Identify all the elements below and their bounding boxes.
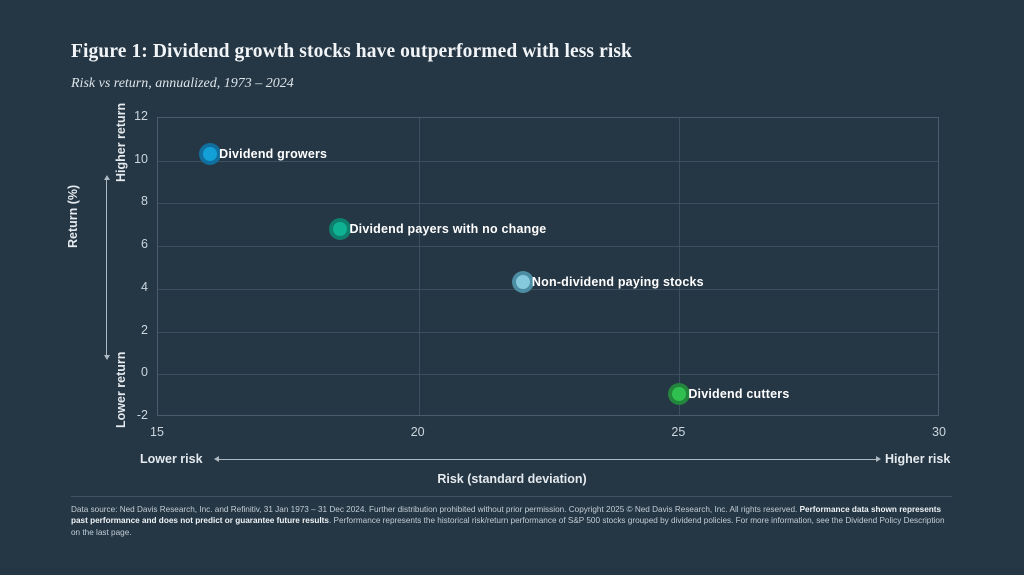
footer-divider [71, 496, 952, 497]
y-axis-tick-label: 0 [118, 365, 148, 379]
data-point-marker [672, 387, 686, 401]
gridline-horizontal [158, 203, 938, 204]
x-axis-tick-label: 20 [398, 425, 438, 439]
y-axis-direction-arrow [100, 117, 114, 416]
gridline-horizontal [158, 374, 938, 375]
data-point[interactable]: Non-dividend paying stocks [512, 271, 534, 293]
scatter-plot-area: Dividend growersDividend payers with no … [157, 117, 939, 416]
data-point-marker [203, 147, 217, 161]
arrow-line [218, 459, 878, 460]
page-title: Figure 1: Dividend growth stocks have ou… [71, 41, 971, 63]
data-point-label: Dividend payers with no change [349, 222, 546, 236]
x-axis-title: Risk (standard deviation) [0, 472, 1024, 486]
y-axis-tick-label: -2 [118, 408, 148, 422]
footnote-emphasis: Performance data shown represents past p… [71, 505, 941, 525]
y-axis-tick-label: 8 [118, 194, 148, 208]
data-point[interactable]: Dividend cutters [668, 383, 690, 405]
data-point-marker [516, 275, 530, 289]
data-point-label: Non-dividend paying stocks [532, 275, 704, 289]
data-point-label: Dividend cutters [688, 387, 789, 401]
gridline-vertical [679, 118, 680, 415]
x-axis-higher-risk-label: Higher risk [885, 452, 950, 466]
data-point-marker [333, 222, 347, 236]
y-axis-tick-label: 2 [118, 323, 148, 337]
x-axis-tick-label: 25 [658, 425, 698, 439]
y-axis-tick-label: 10 [118, 152, 148, 166]
arrow-line [106, 179, 107, 357]
gridline-vertical [419, 118, 420, 415]
figure-header: Figure 1: Dividend growth stocks have ou… [71, 41, 971, 92]
y-axis-tick-label: 4 [118, 280, 148, 294]
y-axis-title: Return (%) [66, 185, 80, 248]
y-axis-tick-label: 12 [118, 109, 148, 123]
x-axis-tick-label: 30 [919, 425, 959, 439]
x-axis-lower-risk-label: Lower risk [140, 452, 203, 466]
gridline-horizontal [158, 246, 938, 247]
arrow-down-icon [104, 355, 110, 360]
footnote-text: Data source: Ned Davis Research, Inc. an… [71, 504, 949, 538]
figure-subtitle: Risk vs return, annualized, 1973 – 2024 [71, 76, 971, 92]
arrow-right-icon [876, 456, 881, 462]
x-axis-tick-label: 15 [137, 425, 177, 439]
data-point[interactable]: Dividend payers with no change [329, 218, 351, 240]
gridline-horizontal [158, 332, 938, 333]
x-axis-direction-arrow: Lower risk Higher risk [140, 452, 960, 466]
y-axis-tick-label: 6 [118, 237, 148, 251]
data-point-label: Dividend growers [219, 147, 327, 161]
data-point[interactable]: Dividend growers [199, 143, 221, 165]
